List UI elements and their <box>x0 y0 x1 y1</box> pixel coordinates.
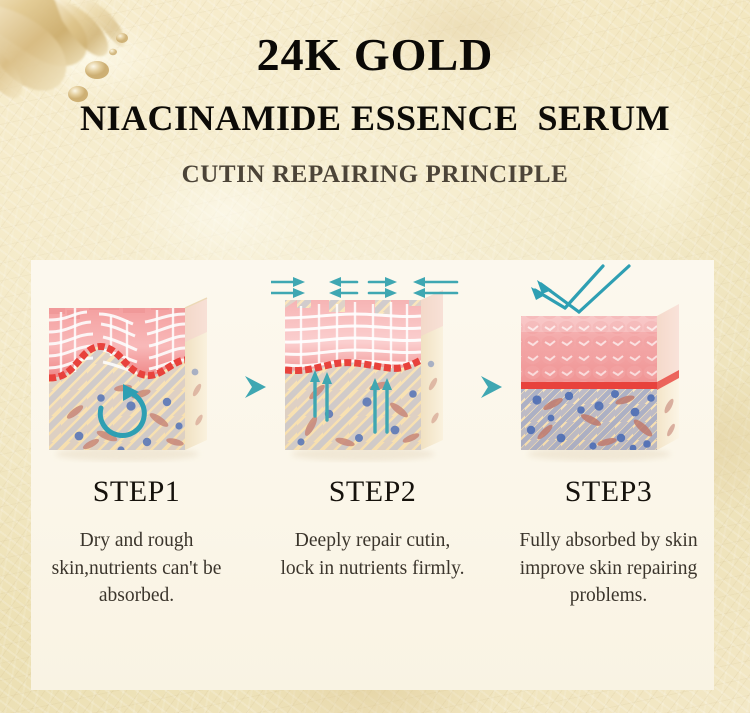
repaired-skin-cross-section-illustration <box>507 260 711 475</box>
page-subtitle: NIACINAMIDE ESSENCE SERUM <box>0 100 750 136</box>
step-description-3: Fully absorbed by skin improve skin repa… <box>516 527 702 610</box>
step-label-2: STEP2 <box>329 477 417 507</box>
steps-panel: STEP1 Dry and rough skin,nutrients can't… <box>31 260 714 690</box>
step-description-2: Deeply repair cutin, lock in nutrients f… <box>277 527 469 582</box>
damaged-skin-cross-section-illustration <box>35 260 239 475</box>
step-card-3: STEP3 Fully absorbed by skin improve ski… <box>507 260 711 610</box>
step-label-1: STEP1 <box>93 477 181 507</box>
steps-row: STEP1 Dry and rough skin,nutrients can't… <box>31 260 714 690</box>
header-block: 24K GOLD NIACINAMIDE ESSENCE SERUM CUTIN… <box>0 0 750 187</box>
page-title: 24K GOLD <box>0 32 750 78</box>
step-arrow-2-to-3 <box>475 260 507 475</box>
inward-nutrient-arrows <box>271 277 457 298</box>
repairing-skin-cross-section-illustration <box>271 260 475 475</box>
page-tagline: CUTIN REPAIRING PRINCIPLE <box>0 162 750 187</box>
step-card-2: STEP2 Deeply repair cutin, lock in nutri… <box>271 260 475 582</box>
step-arrow-1-to-2 <box>239 260 271 475</box>
step-description-1: Dry and rough skin,nutrients can't be ab… <box>37 527 237 610</box>
step-card-1: STEP1 Dry and rough skin,nutrients can't… <box>35 260 239 610</box>
step-label-3: STEP3 <box>565 477 653 507</box>
